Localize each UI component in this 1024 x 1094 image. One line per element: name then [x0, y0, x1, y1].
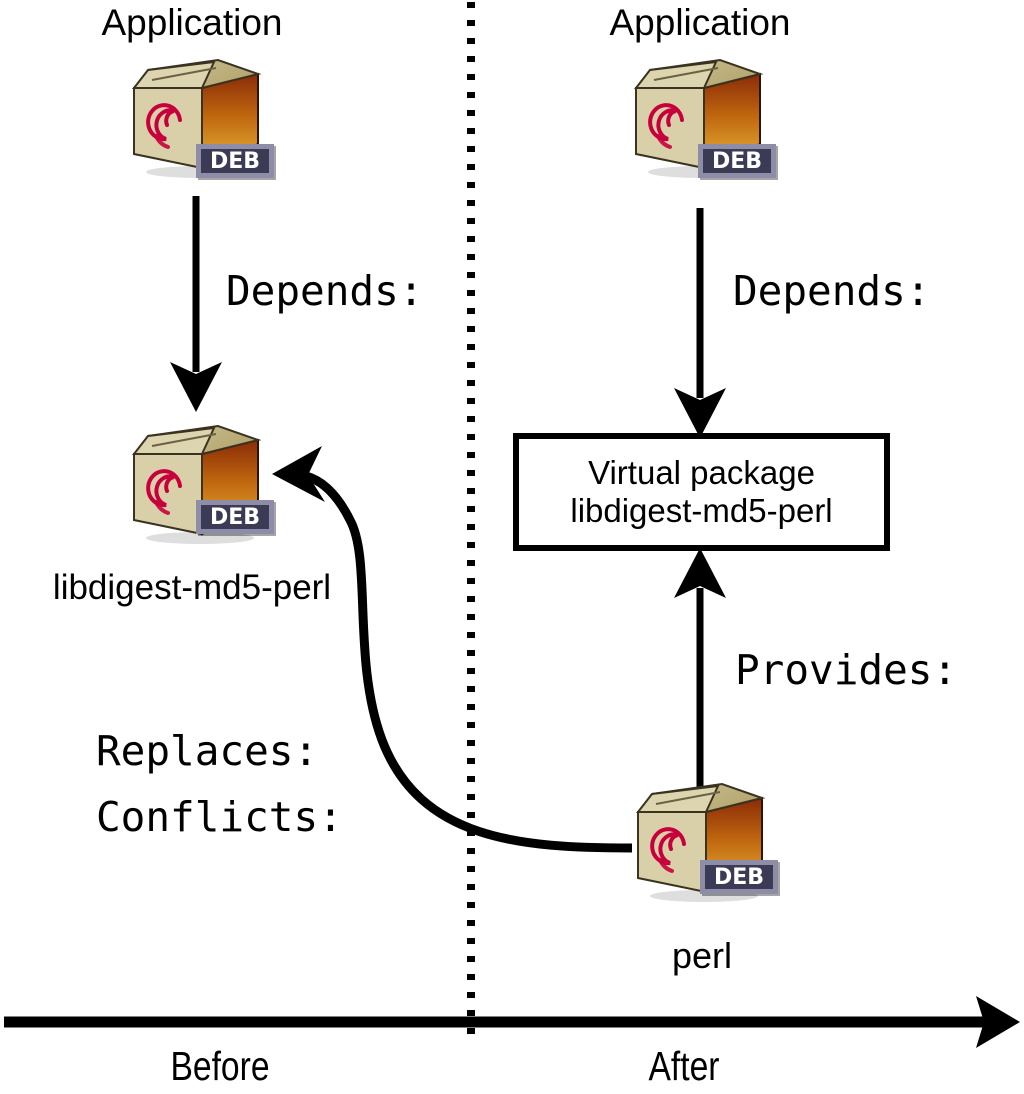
title-application-after: Application — [609, 4, 790, 41]
timeline-axis — [4, 996, 1020, 1048]
label-perl: perl — [672, 938, 732, 974]
deb-badge-perl: DEB — [700, 860, 778, 894]
label-provides: Provides: — [735, 650, 957, 691]
deb-badge-text: DEB — [210, 149, 260, 174]
label-depends-before: Depends: — [226, 271, 423, 312]
label-conflicts: Conflicts: — [96, 797, 343, 838]
right-depends-arrow — [674, 208, 726, 438]
left-depends-arrow — [170, 196, 222, 412]
timeline-label-before: Before — [170, 1046, 269, 1087]
virtual-package-line1: Virtual package — [588, 454, 815, 492]
deb-badge-text: DEB — [714, 865, 764, 890]
deb-badge-text: DEB — [712, 149, 762, 174]
label-replaces: Replaces: — [96, 731, 318, 772]
title-application-before: Application — [101, 4, 282, 41]
deb-badge-text: DEB — [210, 505, 260, 530]
virtual-package-box: Virtual package libdigest-md5-perl — [513, 433, 890, 551]
deb-badge-libdigest-md5-perl: DEB — [196, 500, 274, 534]
debian-virtual-package-diagram: DEB DEB DEB DEB Application Application … — [0, 0, 1024, 1094]
provides-arrow — [674, 548, 726, 800]
deb-badge-application-before: DEB — [196, 144, 274, 178]
label-libdigest-md5-perl: libdigest-md5-perl — [53, 570, 331, 605]
deb-badge-application-after: DEB — [698, 144, 776, 178]
label-depends-after: Depends: — [733, 271, 930, 312]
timeline-label-after: After — [648, 1046, 719, 1087]
virtual-package-line2: libdigest-md5-perl — [570, 492, 832, 530]
